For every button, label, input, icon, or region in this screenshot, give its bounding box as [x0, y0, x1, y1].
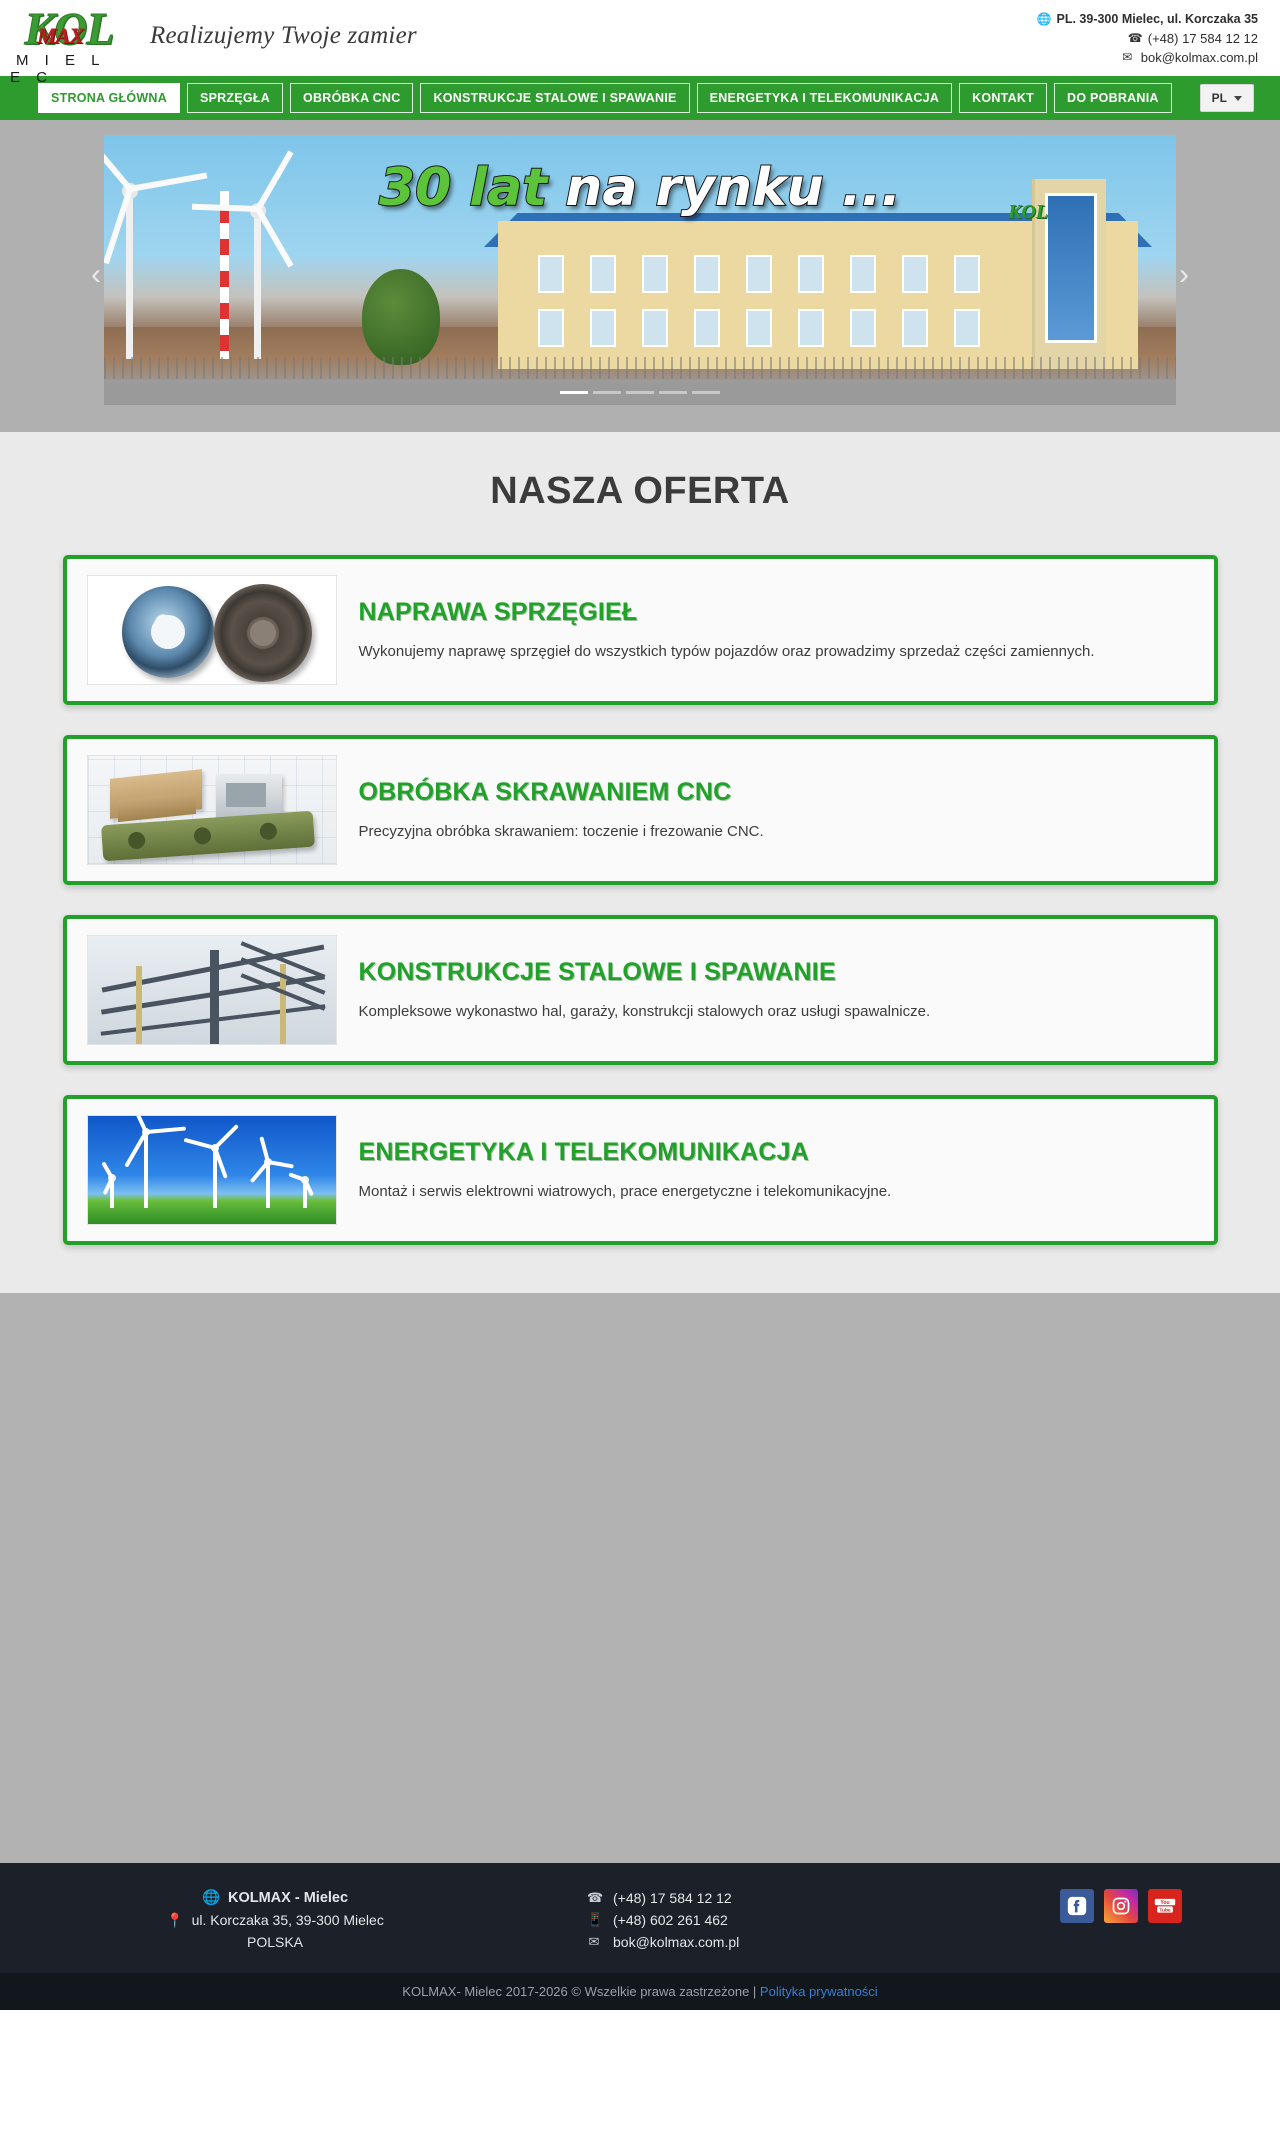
- offer-card-body: OBRÓBKA SKRAWANIEM CNC Precyzyjna obróbk…: [359, 778, 1194, 843]
- footer-mobile-row[interactable]: 📱 (+48) 602 261 462: [525, 1909, 885, 1931]
- turbine-blade: [213, 1124, 238, 1149]
- part-hole: [127, 831, 145, 849]
- hero-window: [746, 309, 772, 347]
- steel-column: [136, 966, 142, 1044]
- turbine-mast: [254, 209, 261, 359]
- turbine-mast: [266, 1162, 270, 1208]
- wind-turbine: [266, 1162, 270, 1208]
- hero-window: [642, 309, 668, 347]
- site-footer: 🌐 KOLMAX - Mielec 📍 ul. Korczaka 35, 39-…: [0, 1863, 1280, 1973]
- hero-window: [590, 309, 616, 347]
- carousel-indicator-1[interactable]: [560, 391, 588, 394]
- hero-window: [694, 309, 720, 347]
- clutch-cover-shape: [122, 586, 214, 678]
- facebook-icon[interactable]: [1060, 1889, 1094, 1923]
- page-filler-area: [0, 1293, 1280, 1863]
- nav-item-energetyka[interactable]: ENERGETYKA I TELEKOMUNIKACJA: [697, 83, 952, 113]
- turbine-blade: [288, 1172, 305, 1182]
- offer-card-naprawa-sprzegiel[interactable]: NAPRAWA SPRZĘGIEŁ Wykonujemy naprawę spr…: [63, 555, 1218, 705]
- turbine-blade: [101, 1161, 113, 1179]
- hero-window: [642, 255, 668, 293]
- nav-item-konstrukcje-stalowe[interactable]: KONSTRUKCJE STALOWE I SPAWANIE: [420, 83, 689, 113]
- clutch-illustration: [88, 576, 336, 684]
- turbine-blade: [267, 1160, 293, 1168]
- offer-card-obrobka-cnc[interactable]: OBRÓBKA SKRAWANIEM CNC Precyzyjna obróbk…: [63, 735, 1218, 885]
- globe-icon: 🌐: [1037, 10, 1050, 29]
- hero-window: [694, 255, 720, 293]
- carousel-prev-arrow-icon[interactable]: ‹: [82, 260, 110, 292]
- hero-headline-white: na rynku ...: [565, 158, 901, 218]
- nav-item-kontakt[interactable]: KONTAKT: [959, 83, 1047, 113]
- offer-card-list: NAPRAWA SPRZĘGIEŁ Wykonujemy naprawę spr…: [63, 555, 1218, 1245]
- language-current: PL: [1212, 91, 1227, 105]
- svg-text:Tube: Tube: [1159, 1908, 1171, 1914]
- offer-card-text: Precyzyjna obróbka skrawaniem: toczenie …: [359, 820, 1159, 843]
- offer-section-title: NASZA OFERTA: [0, 470, 1280, 513]
- footer-phone: (+48) 17 584 12 12: [613, 1887, 732, 1909]
- footer-address-column: 🌐 KOLMAX - Mielec 📍 ul. Korczaka 35, 39-…: [60, 1887, 490, 1953]
- offer-card-body: ENERGETYKA I TELEKOMUNIKACJA Montaż i se…: [359, 1138, 1194, 1203]
- wind-illustration: [88, 1116, 336, 1224]
- wind-turbine: [303, 1180, 307, 1208]
- hero-fence: [104, 357, 1176, 379]
- globe-icon: 🌐: [202, 1887, 220, 1909]
- footer-phone-row[interactable]: ☎ (+48) 17 584 12 12: [525, 1887, 885, 1909]
- company-slogan: Realizujemy Twoje zamier: [150, 22, 417, 50]
- offer-card-text: Kompleksowe wykonastwo hal, garaży, kons…: [359, 1000, 1159, 1023]
- footer-address: ul. Korczaka 35, 39-300 Mielec: [192, 1909, 384, 1931]
- mobile-phone-icon: 📱: [587, 1909, 601, 1931]
- turbine-blade: [127, 1115, 148, 1133]
- phone-icon: ☎: [1128, 29, 1141, 48]
- header-email-row[interactable]: ✉ bok@kolmax.com.pl: [1037, 48, 1259, 67]
- offer-card-energetyka[interactable]: ENERGETYKA I TELEKOMUNIKACJA Montaż i se…: [63, 1095, 1218, 1245]
- steel-illustration: [88, 936, 336, 1044]
- hero-window: [746, 255, 772, 293]
- carousel-indicator-2[interactable]: [593, 391, 621, 394]
- hero-window: [954, 309, 980, 347]
- offer-card-heading: OBRÓBKA SKRAWANIEM CNC: [359, 778, 1194, 807]
- wind-turbine: [110, 1178, 114, 1208]
- svg-text:You: You: [1160, 1900, 1169, 1906]
- nav-item-do-pobrania[interactable]: DO POBRANIA: [1054, 83, 1172, 113]
- hero-wind-turbine: [254, 209, 261, 359]
- envelope-icon: ✉: [1121, 48, 1134, 67]
- offer-section: NASZA OFERTA NAPRAWA SPRZĘGIEŁ Wykonujem…: [0, 432, 1280, 1293]
- footer-social-links: You Tube: [920, 1887, 1220, 1923]
- hero-window: [538, 255, 564, 293]
- header-email: bok@kolmax.com.pl: [1141, 48, 1258, 67]
- steel-structure-image: [87, 935, 337, 1045]
- hero-window: [902, 309, 928, 347]
- logo[interactable]: KOL MAX M I E L E C: [10, 7, 128, 69]
- wind-turbines-image: [87, 1115, 337, 1225]
- wind-turbine: [144, 1132, 148, 1208]
- instagram-icon[interactable]: [1104, 1889, 1138, 1923]
- logo-subtitle: M I E L E C: [10, 52, 128, 86]
- turbine-blade: [183, 1138, 215, 1150]
- footer-country: POLSKA: [60, 1931, 490, 1953]
- offer-card-body: NAPRAWA SPRZĘGIEŁ Wykonujemy naprawę spr…: [359, 598, 1194, 663]
- hero-window: [590, 255, 616, 293]
- hero-carousel: 30 lat na rynku ... KOL ‹ ›: [0, 120, 1280, 432]
- clutch-parts-image: [87, 575, 337, 685]
- footer-mobile: (+48) 602 261 462: [613, 1909, 728, 1931]
- phone-icon: ☎: [587, 1887, 601, 1909]
- header-contact-info: 🌐 PL. 39-300 Mielec, ul. Korczaka 35 ☎ (…: [1037, 10, 1259, 67]
- part-hole: [259, 822, 277, 840]
- offer-card-heading: KONSTRUKCJE STALOWE I SPAWANIE: [359, 958, 1194, 987]
- wind-turbine: [213, 1148, 217, 1208]
- nav-item-strona-glowna[interactable]: STRONA GŁÓWNA: [38, 83, 180, 113]
- hero-window: [902, 255, 928, 293]
- nav-item-sprzegla[interactable]: SPRZĘGŁA: [187, 83, 283, 113]
- youtube-icon[interactable]: You Tube: [1148, 1889, 1182, 1923]
- turbine-blade: [145, 1127, 185, 1134]
- site-header: KOL MAX M I E L E C Realizujemy Twoje za…: [0, 0, 1280, 76]
- header-phone-row[interactable]: ☎ (+48) 17 584 12 12: [1037, 29, 1259, 48]
- footer-company-name: KOLMAX - Mielec: [228, 1887, 348, 1909]
- carousel-indicator-5[interactable]: [692, 391, 720, 394]
- brand-block[interactable]: KOL MAX M I E L E C Realizujemy Twoje za…: [10, 7, 417, 69]
- nav-item-obrobka-cnc[interactable]: OBRÓBKA CNC: [290, 83, 413, 113]
- footer-contact-column: ☎ (+48) 17 584 12 12 📱 (+48) 602 261 462…: [525, 1887, 885, 1953]
- main-navigation: STRONA GŁÓWNA SPRZĘGŁA OBRÓBKA CNC KONST…: [0, 76, 1280, 120]
- offer-card-konstrukcje-stalowe[interactable]: KONSTRUKCJE STALOWE I SPAWANIE Komplekso…: [63, 915, 1218, 1065]
- steel-column: [210, 950, 219, 1045]
- carousel-indicators: [0, 391, 1280, 394]
- footer-address-row: 📍 ul. Korczaka 35, 39-300 Mielec: [60, 1909, 490, 1931]
- hero-window: [954, 255, 980, 293]
- copyright-text: KOLMAX- Mielec 2017-2026 © Wszelkie praw…: [402, 1984, 756, 1999]
- offer-card-heading: NAPRAWA SPRZĘGIEŁ: [359, 598, 1194, 627]
- turbine-mast: [144, 1132, 148, 1208]
- offer-card-text: Wykonujemy naprawę sprzęgieł do wszystki…: [359, 640, 1159, 663]
- hero-headline-green: 30 lat: [379, 158, 547, 218]
- hero-window: [798, 309, 824, 347]
- carousel-indicator-3[interactable]: [626, 391, 654, 394]
- map-pin-icon: 📍: [166, 1909, 183, 1931]
- hero-window: [850, 255, 876, 293]
- grass-field: [88, 1202, 336, 1224]
- logo-overlay-text: MAX: [37, 23, 83, 49]
- cnc-illustration: [88, 756, 336, 864]
- privacy-policy-link[interactable]: Polityka prywatności: [760, 1984, 878, 1999]
- hero-window: [850, 309, 876, 347]
- carousel-next-arrow-icon[interactable]: ›: [1170, 260, 1198, 292]
- part-hole: [193, 827, 211, 845]
- header-phone: (+48) 17 584 12 12: [1148, 29, 1258, 48]
- offer-card-body: KONSTRUKCJE STALOWE I SPAWANIE Komplekso…: [359, 958, 1194, 1023]
- footer-company-row: 🌐 KOLMAX - Mielec: [60, 1887, 490, 1909]
- chevron-down-icon: [1234, 96, 1242, 101]
- hero-headline: 30 lat na rynku ...: [104, 159, 1176, 217]
- language-selector[interactable]: PL: [1200, 84, 1254, 112]
- header-address: PL. 39-300 Mielec, ul. Korczaka 35: [1057, 10, 1259, 29]
- hero-window: [798, 255, 824, 293]
- offer-card-text: Montaż i serwis elektrowni wiatrowych, p…: [359, 1180, 1159, 1203]
- aluminium-part-shape: [216, 774, 282, 818]
- cnc-parts-image: [87, 755, 337, 865]
- hero-slide[interactable]: 30 lat na rynku ... KOL: [104, 135, 1176, 405]
- hero-window: [538, 309, 564, 347]
- hero-tree: [362, 269, 440, 365]
- clutch-disc-shape: [214, 584, 312, 682]
- header-address-row: 🌐 PL. 39-300 Mielec, ul. Korczaka 35: [1037, 10, 1259, 29]
- carousel-indicator-4[interactable]: [659, 391, 687, 394]
- footer-content: 🌐 KOLMAX - Mielec 📍 ul. Korczaka 35, 39-…: [60, 1887, 1220, 1953]
- footer-email: bok@kolmax.com.pl: [613, 1931, 739, 1953]
- envelope-icon: ✉: [587, 1931, 601, 1953]
- copyright-bar: KOLMAX- Mielec 2017-2026 © Wszelkie praw…: [0, 1973, 1280, 2010]
- turbine-blade: [259, 1136, 270, 1162]
- offer-card-heading: ENERGETYKA I TELEKOMUNIKACJA: [359, 1138, 1194, 1167]
- footer-email-row[interactable]: ✉ bok@kolmax.com.pl: [525, 1931, 885, 1953]
